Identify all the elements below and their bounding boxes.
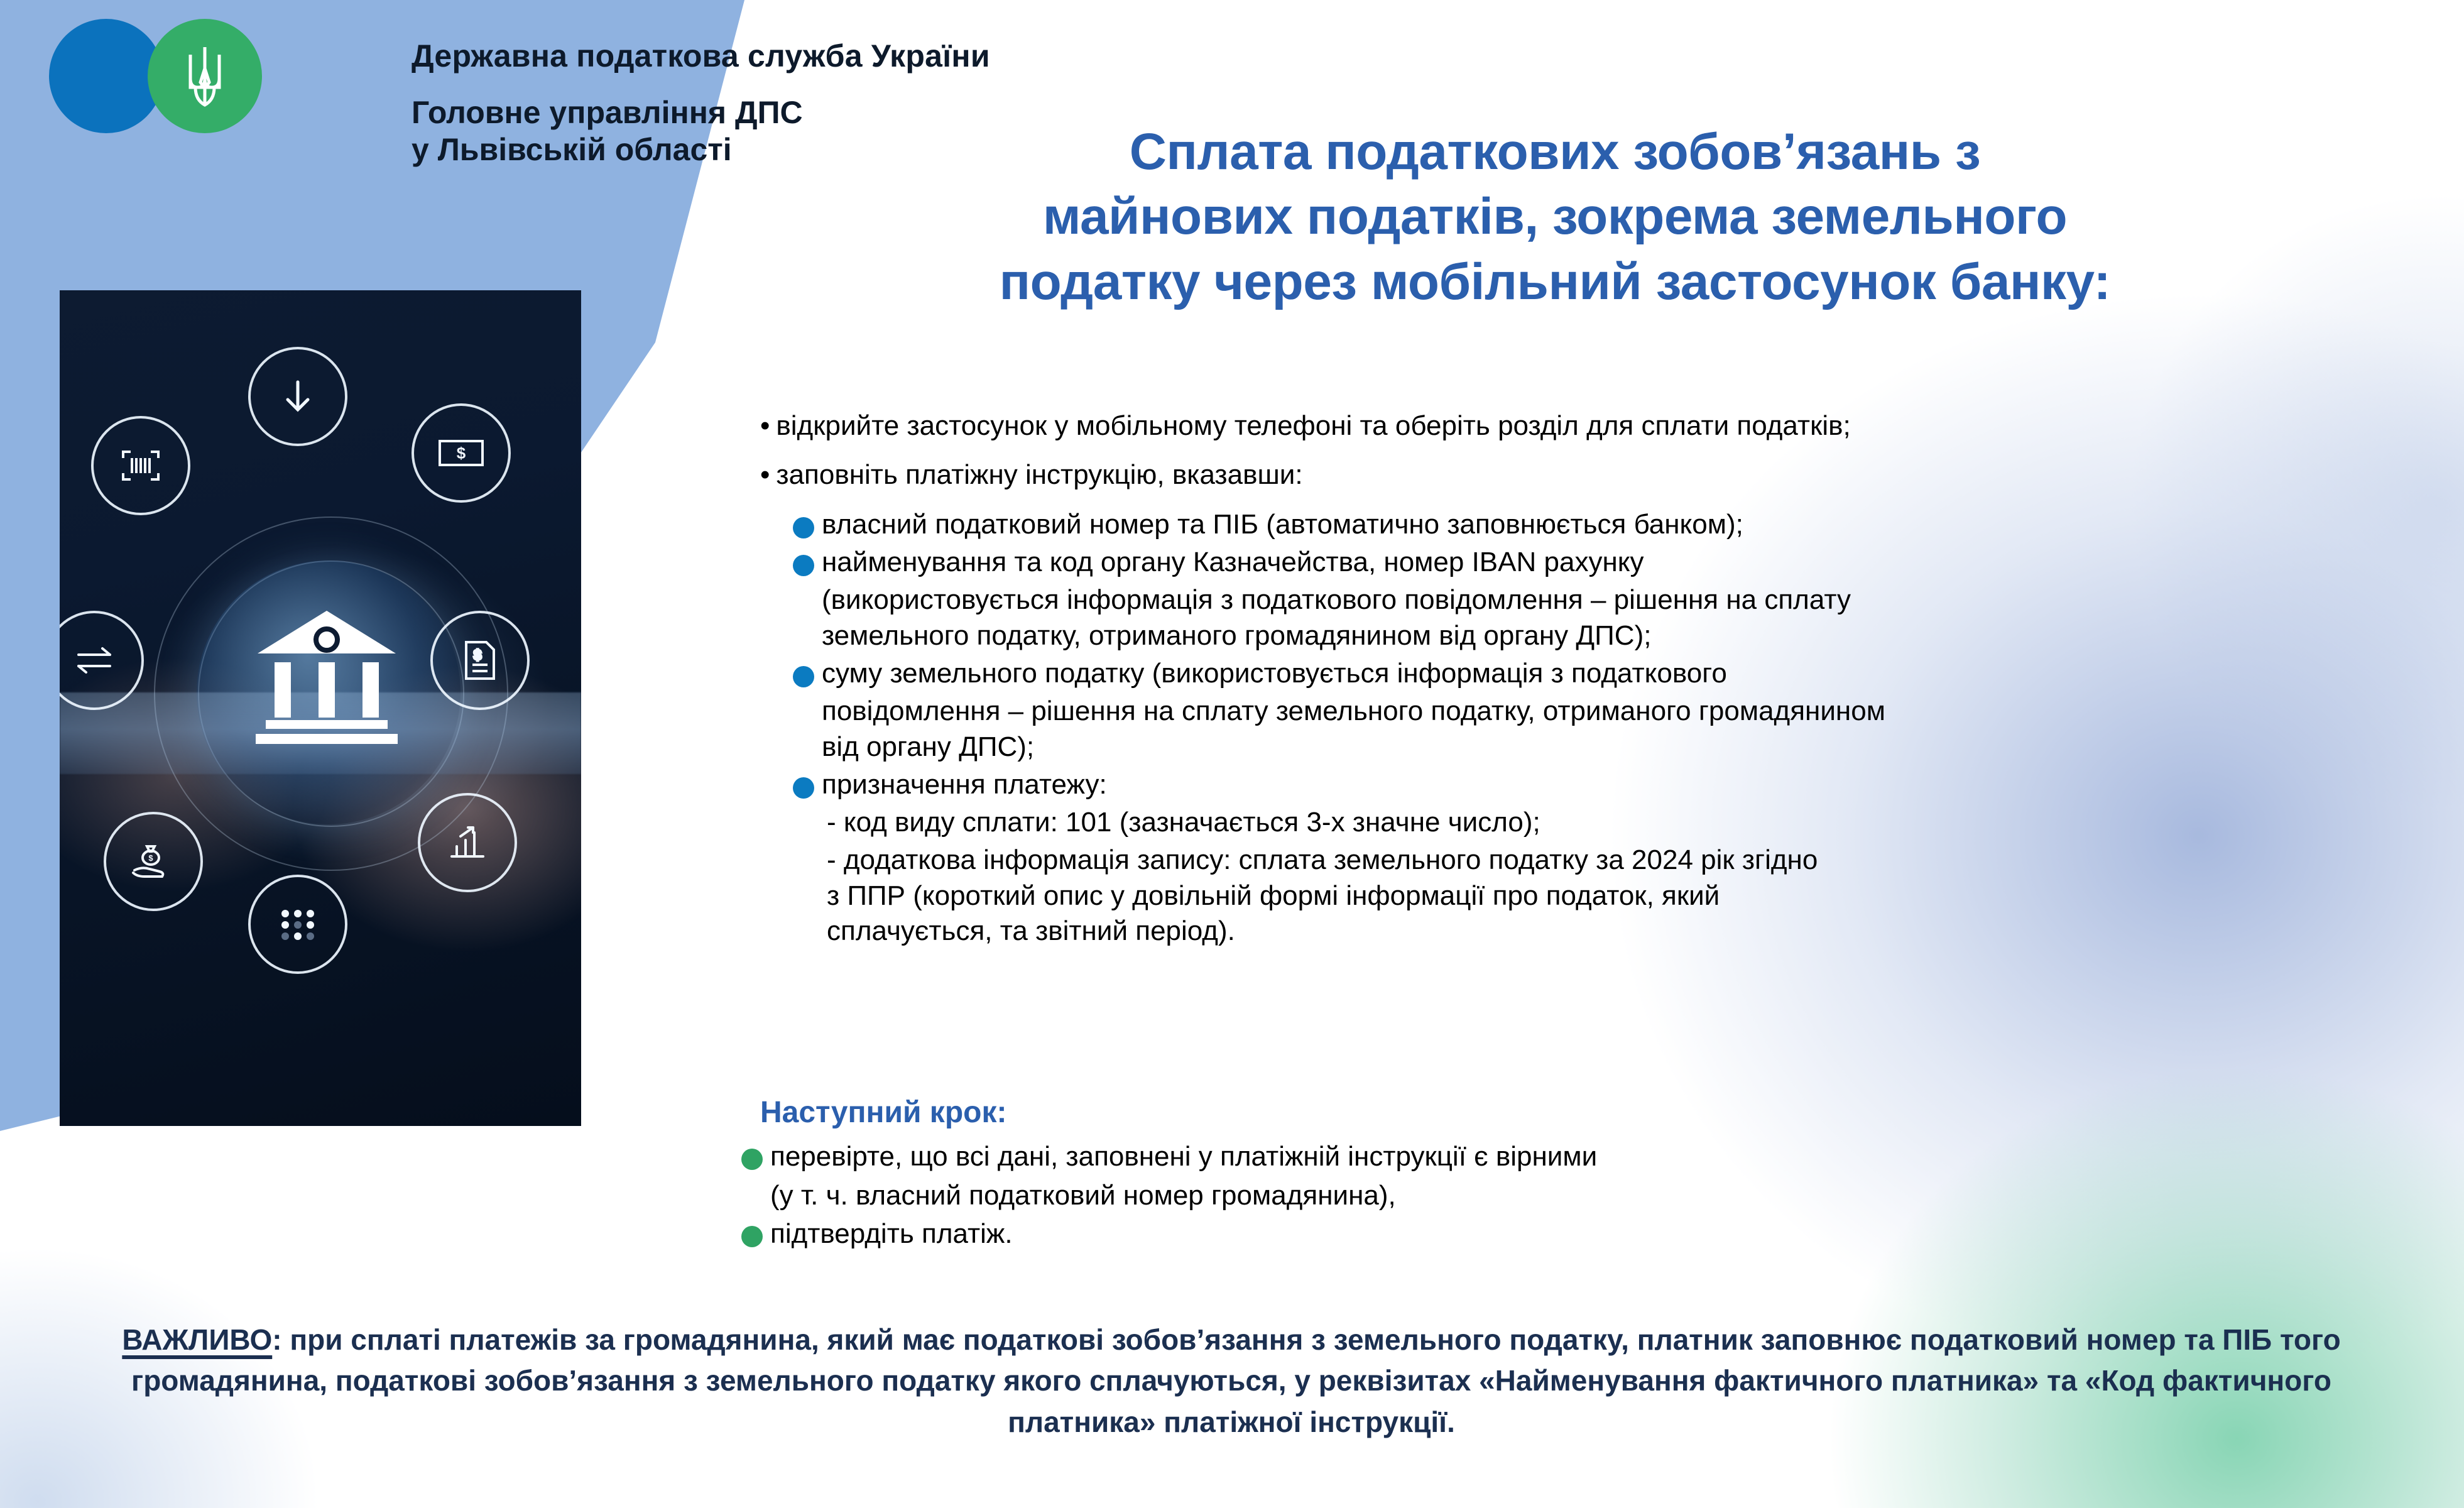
invoice-document-icon: $ xyxy=(430,611,530,710)
bank-building-icon xyxy=(248,604,405,749)
fintech-photo: $ $ $ xyxy=(60,290,581,1126)
next-step-item: перевірте, що всі дані, заповнені у плат… xyxy=(741,1139,2438,1174)
logo-circle-green xyxy=(148,19,262,133)
bullet-dot-green-icon xyxy=(741,1149,763,1170)
svg-text:$: $ xyxy=(474,647,481,663)
bullet-dot-blue-icon xyxy=(793,777,814,799)
sub-item: призначення платежу: xyxy=(793,767,2431,802)
sub-item-text: призначення платежу: xyxy=(822,767,2431,802)
sub-item-text: найменування та код органу Казначейства,… xyxy=(822,545,2431,580)
step-item: • відкрийте застосунок у мобільному теле… xyxy=(760,408,2431,444)
payment-detail: - код виду сплати: 101 (зазначається 3-х… xyxy=(827,805,2431,840)
instructions-body: • відкрийте застосунок у мобільному теле… xyxy=(760,408,2431,951)
bullet-dot-blue-icon xyxy=(793,666,814,687)
svg-text:$: $ xyxy=(457,444,466,462)
barcode-scan-icon xyxy=(91,416,190,515)
banknote-dollar-icon: $ xyxy=(412,403,511,503)
step-item: • заповніть платіжну інструкцію, вказавш… xyxy=(760,457,2431,493)
bullet-dot-blue-icon xyxy=(793,555,814,576)
next-step-text: підтвердіть платіж. xyxy=(770,1216,2438,1252)
sub-item: найменування та код органу Казначейства,… xyxy=(793,545,2431,580)
important-text: : при сплаті платежів за громадянина, як… xyxy=(131,1323,2341,1438)
logo-circle-blue xyxy=(49,19,163,133)
sub-item-continuation: повідомлення – рішення на сплату земельн… xyxy=(822,694,2431,765)
bullet-dot-blue-icon xyxy=(793,517,814,538)
next-step-continuation: (у т. ч. власний податковий номер громад… xyxy=(770,1177,2438,1213)
dps-logo xyxy=(49,19,325,135)
important-note: ВАЖЛИВО: при сплаті платежів за громадян… xyxy=(88,1319,2375,1443)
bullet-dot-green-icon xyxy=(741,1226,763,1247)
sub-item: власний податковий номер та ПІБ (автомат… xyxy=(793,507,2431,542)
sub-item-text: власний податковий номер та ПІБ (автомат… xyxy=(822,507,2431,542)
next-step-section: Наступний крок: перевірте, що всі дані, … xyxy=(741,1093,2438,1254)
growth-chart-icon xyxy=(418,793,517,892)
svg-text:$: $ xyxy=(148,853,153,863)
next-step-text: перевірте, що всі дані, заповнені у плат… xyxy=(770,1139,2438,1174)
next-step-heading: Наступний крок: xyxy=(760,1093,2438,1132)
page-title: Сплата податкових зобов’язань з майнових… xyxy=(810,119,2299,314)
step-text: відкрийте застосунок у мобільному телефо… xyxy=(776,408,2431,444)
department-name: Головне управління ДПС у Львівській обла… xyxy=(412,94,803,168)
sub-item: суму земельного податку (використовуєтьс… xyxy=(793,656,2431,691)
bullet-dash: • xyxy=(760,408,770,444)
payment-detail: - додаткова інформація запису: сплата зе… xyxy=(827,843,2431,949)
bullet-dash: • xyxy=(760,457,770,493)
money-bag-hand-icon: $ xyxy=(104,812,203,911)
step-text: заповніть платіжну інструкцію, вказавши: xyxy=(776,457,2431,493)
sub-item-continuation: (використовується інформація з податково… xyxy=(822,582,2431,653)
ukraine-trident-icon xyxy=(183,43,227,109)
organization-name: Державна податкова служба України xyxy=(412,38,990,74)
dots-grid-icon xyxy=(248,875,347,974)
important-label: ВАЖЛИВО xyxy=(122,1323,272,1356)
download-arrow-icon xyxy=(248,347,347,446)
next-step-item: підтвердіть платіж. xyxy=(741,1216,2438,1252)
sub-item-text: суму земельного податку (використовуєтьс… xyxy=(822,656,2431,691)
